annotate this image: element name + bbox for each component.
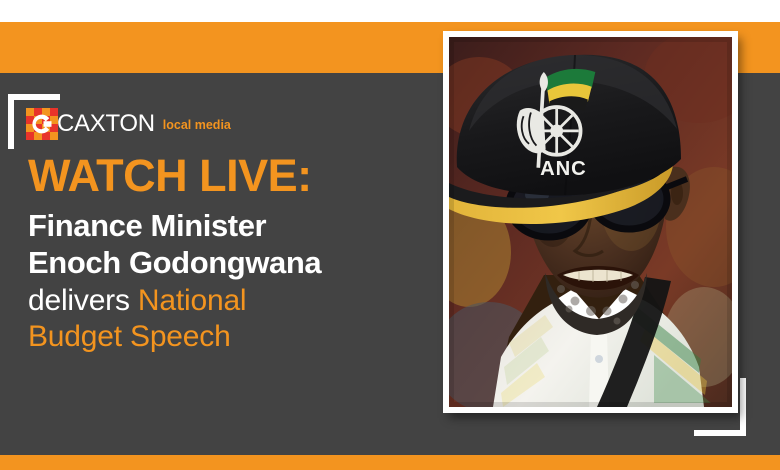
headline-line-1: Finance Minister bbox=[28, 208, 428, 245]
bracket-horizontal-bar bbox=[694, 430, 746, 436]
caxton-tagline: local media bbox=[163, 119, 231, 132]
headline-line-3: delivers National bbox=[28, 283, 428, 319]
bottom-orange-band bbox=[0, 455, 780, 470]
headline-line-3-accent: National bbox=[138, 284, 246, 317]
top-white-strip bbox=[0, 0, 780, 22]
headline-line-4: Budget Speech bbox=[28, 319, 428, 355]
caxton-logo[interactable]: CAXTON local media bbox=[26, 108, 231, 140]
caxton-mosaic-c-icon bbox=[26, 108, 58, 140]
promo-banner: CAXTON local media WATCH LIVE: Finance M… bbox=[0, 0, 780, 470]
headline-block: WATCH LIVE: Finance Minister Enoch Godon… bbox=[28, 153, 428, 355]
watch-live-kicker: WATCH LIVE: bbox=[28, 153, 428, 198]
headline-line-3-plain: delivers bbox=[28, 284, 138, 317]
bracket-vertical-bar bbox=[8, 94, 14, 149]
portrait-photo: ANC bbox=[449, 37, 732, 407]
caxton-wordmark: CAXTON bbox=[57, 112, 155, 136]
portrait-photo-frame: ANC bbox=[443, 31, 738, 413]
headline-line-2: Enoch Godongwana bbox=[28, 245, 428, 282]
svg-text:ANC: ANC bbox=[540, 158, 587, 180]
bracket-horizontal-bar bbox=[8, 94, 60, 100]
